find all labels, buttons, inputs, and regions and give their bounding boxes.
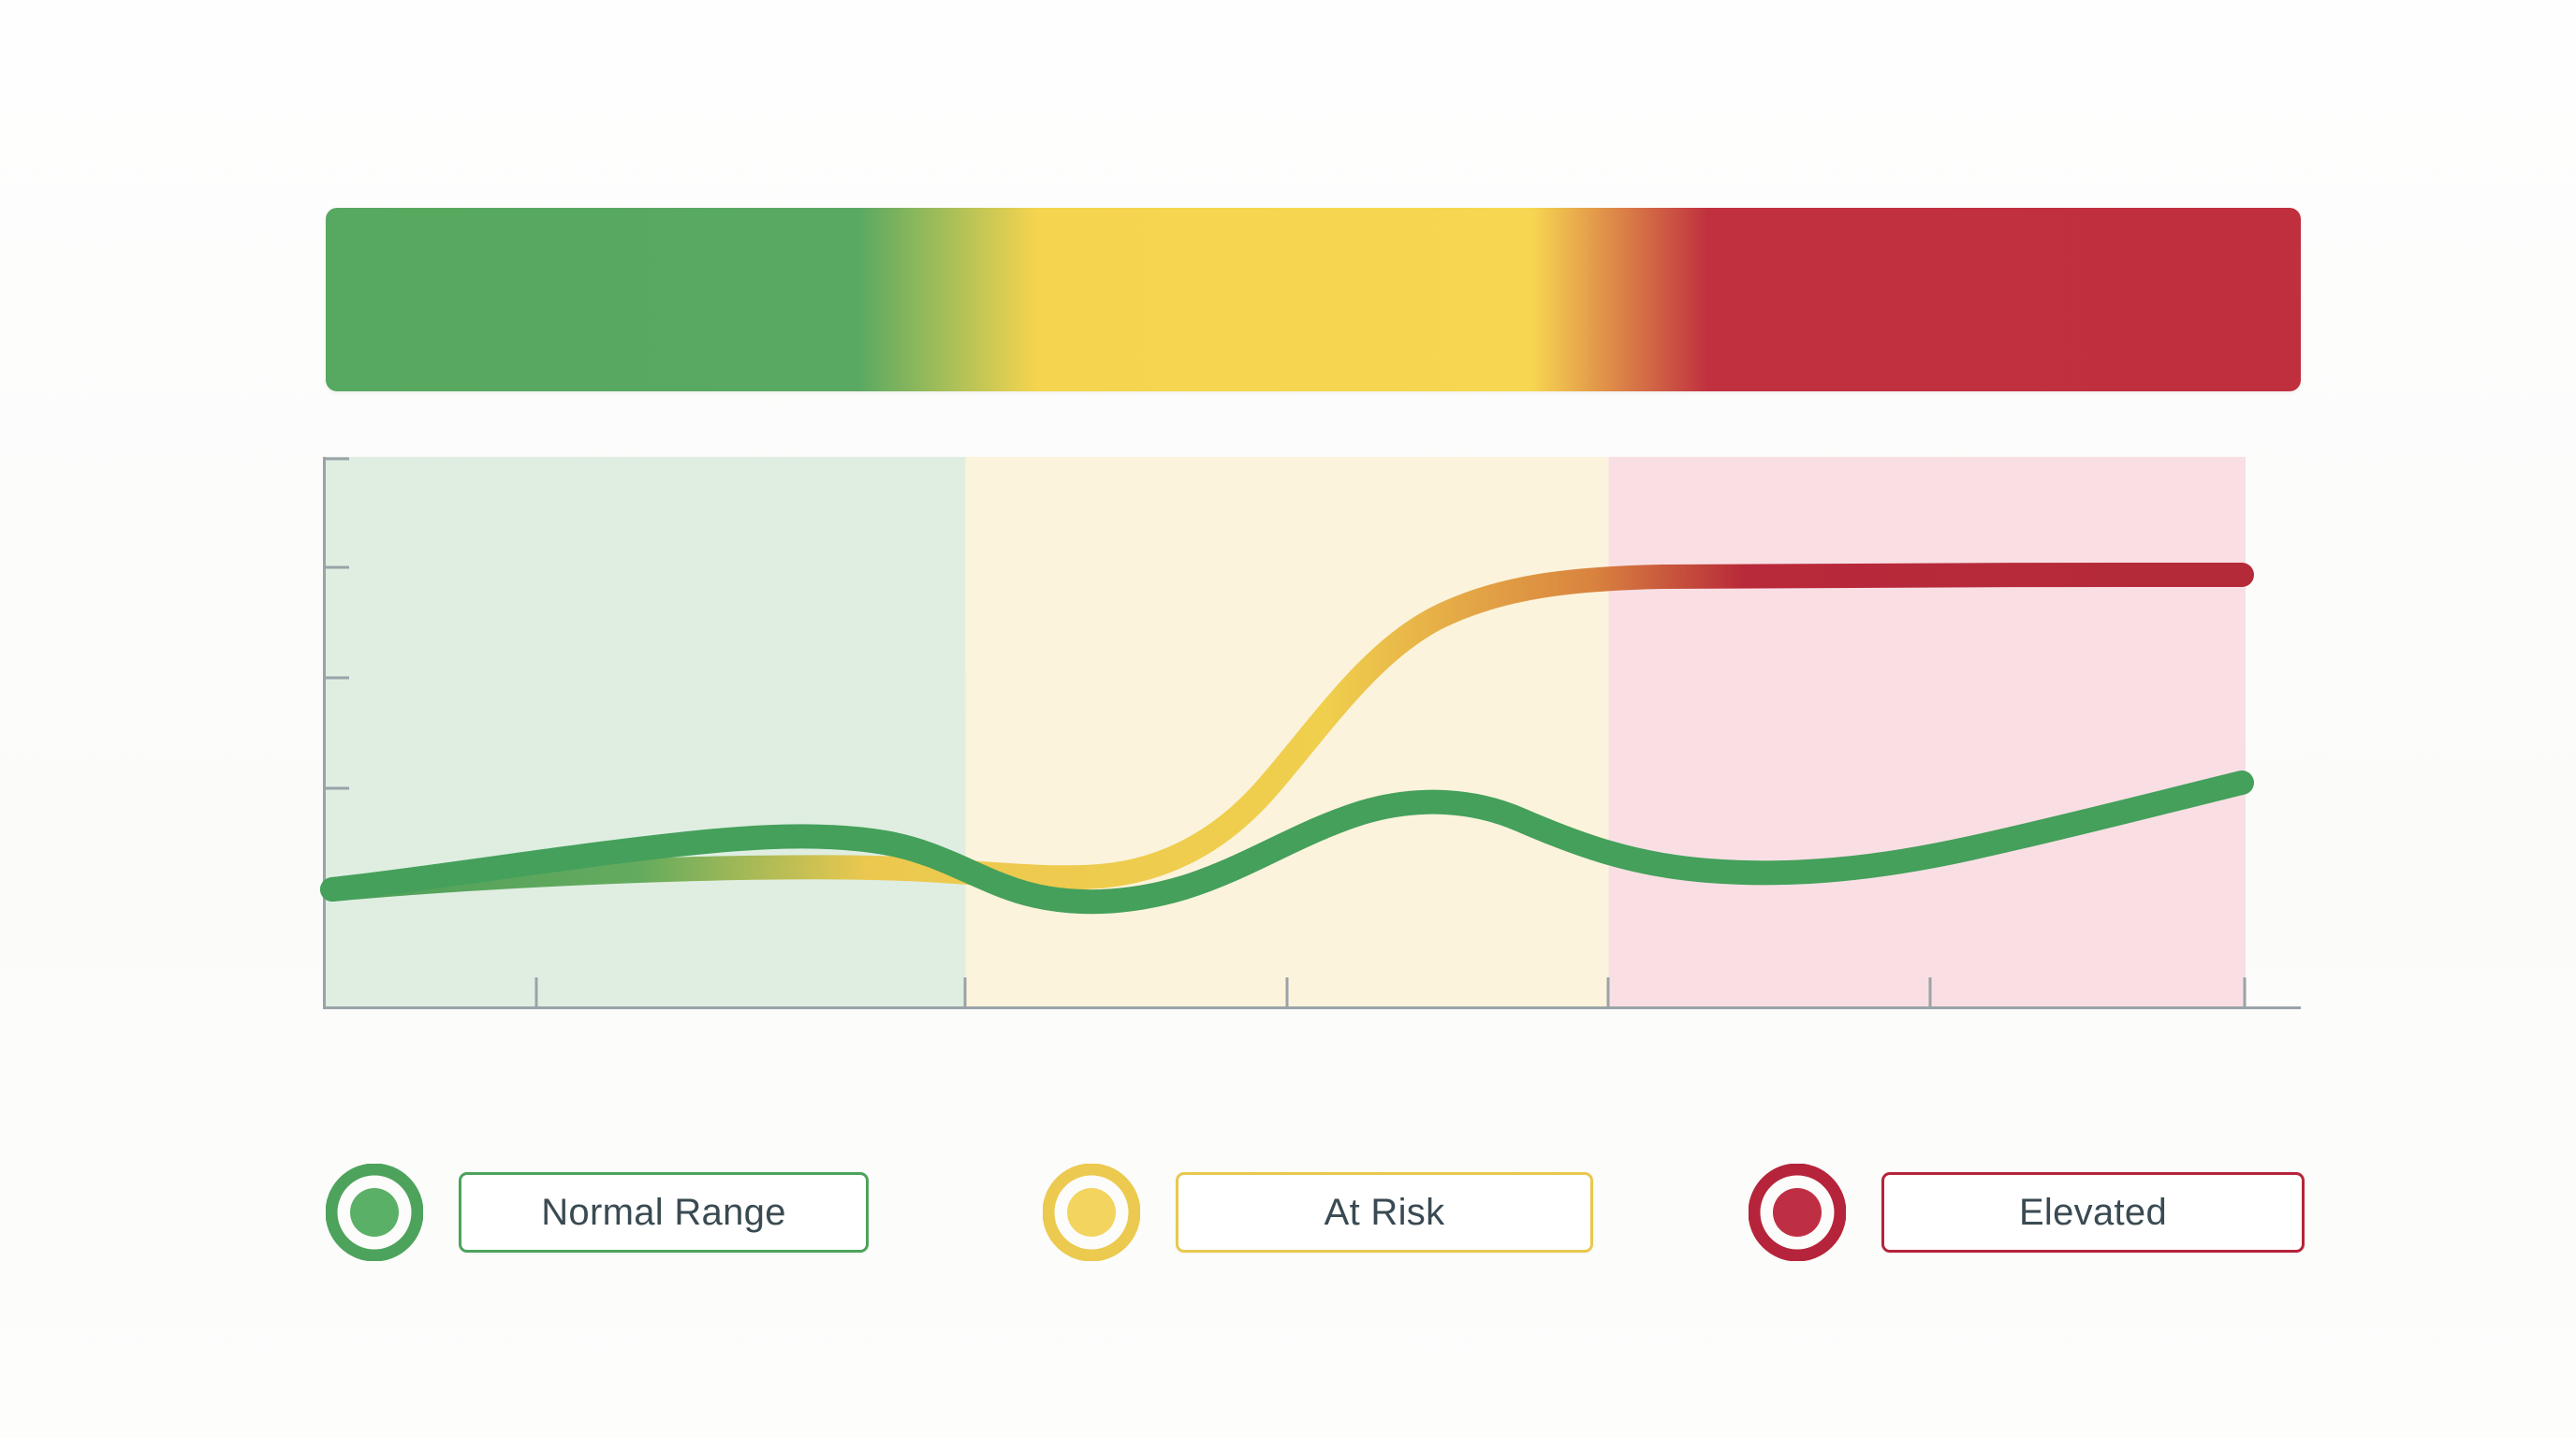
legend-item-elevated[interactable]: Elevated bbox=[1749, 1147, 2305, 1278]
band-normal-range bbox=[323, 457, 966, 1009]
page-canvas: Normal Range At Risk Elevated bbox=[0, 0, 2576, 1438]
legend-pill-at-risk[interactable]: At Risk bbox=[1176, 1172, 1593, 1253]
chart-canvas bbox=[323, 457, 2301, 1042]
risk-gradient-bar bbox=[326, 208, 2301, 391]
legend-item-normal-range[interactable]: Normal Range bbox=[326, 1147, 869, 1278]
risk-gradient-bar-fill bbox=[326, 208, 2301, 391]
legend-pill-normal-range[interactable]: Normal Range bbox=[459, 1172, 869, 1253]
risk-trend-chart bbox=[323, 457, 2301, 1042]
legend-item-at-risk[interactable]: At Risk bbox=[1043, 1147, 1593, 1278]
band-at-risk bbox=[966, 457, 1609, 1009]
ring-marker-icon bbox=[1043, 1164, 1140, 1261]
chart-bands bbox=[323, 457, 2246, 1009]
band-elevated bbox=[1609, 457, 2246, 1009]
legend-label-at-risk: At Risk bbox=[1325, 1192, 1445, 1234]
ring-marker-icon bbox=[1749, 1164, 1846, 1261]
legend-label-normal-range: Normal Range bbox=[541, 1192, 786, 1234]
legend-pill-elevated[interactable]: Elevated bbox=[1881, 1172, 2305, 1253]
status-legend: Normal Range At Risk Elevated bbox=[326, 1147, 2301, 1278]
legend-label-elevated: Elevated bbox=[2019, 1192, 2167, 1234]
ring-marker-icon bbox=[326, 1164, 423, 1261]
